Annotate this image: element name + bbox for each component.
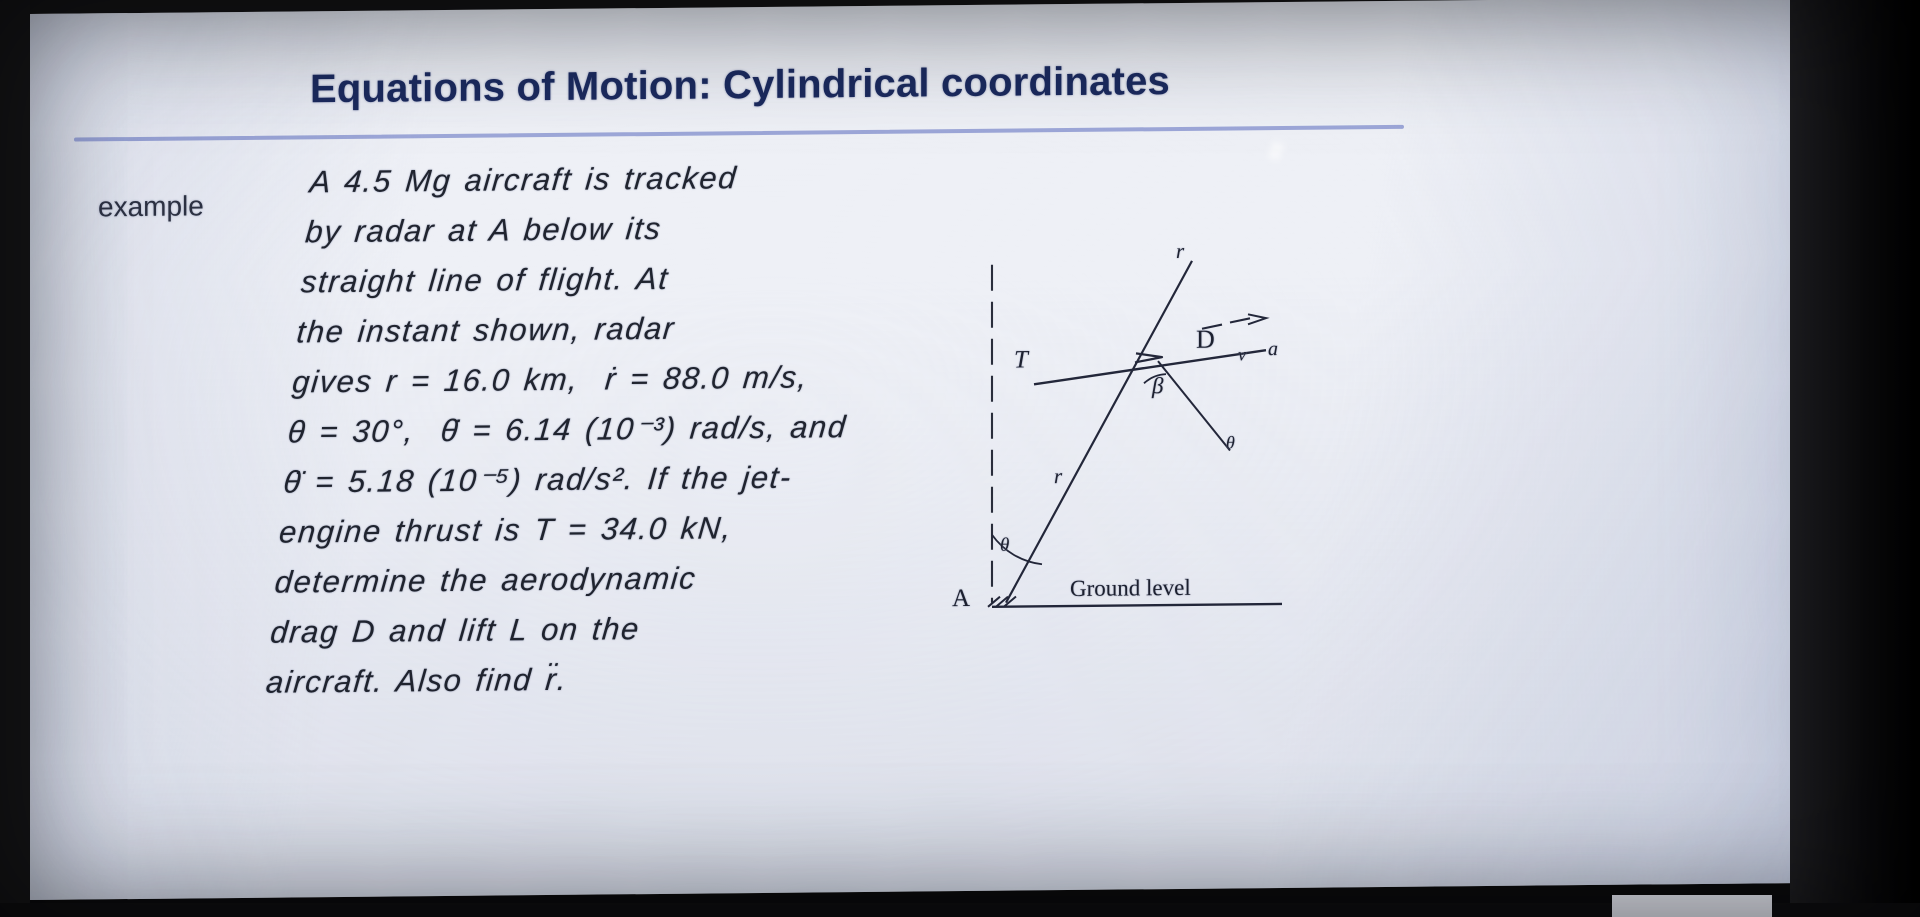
label-lift-a: a (1268, 338, 1278, 361)
label-velocity-v: v (1238, 344, 1246, 365)
problem-line-7: θ̈ = 5.18 (10⁻⁵) rad/s². If the jet- (281, 452, 905, 508)
lower-right-ray (1158, 360, 1230, 451)
label-beta: β (1152, 373, 1163, 399)
example-label: example (98, 190, 204, 223)
problem-line-11: aircraft. Also find r̈. (264, 652, 888, 708)
problem-line-5: gives r = 16.0 km, ṙ = 88.0 m/s, (290, 352, 914, 408)
label-r-top: r (1176, 239, 1184, 264)
taskbar-chip (1612, 895, 1772, 917)
label-ground-level: Ground level (1070, 575, 1191, 602)
projector-screen-photo: Equations of Motion: Cylindrical coordin… (0, 0, 1920, 917)
slide-title: Equations of Motion: Cylindrical coordin… (30, 56, 1450, 115)
problem-line-9: determine the aerodynamic (273, 552, 897, 608)
problem-line-2: by radar at A below its (303, 201, 927, 257)
problem-line-1: A 4.5 Mg aircraft is tracked (308, 151, 932, 207)
bezel-left (0, 0, 30, 917)
problem-line-8: engine thrust is T = 34.0 kN, (277, 502, 901, 558)
problem-line-10: drag D and lift L on the (268, 602, 892, 658)
problem-line-4: the instant shown, radar (295, 301, 919, 357)
label-thrust-T: T (1014, 346, 1028, 374)
lens-glare (1267, 141, 1284, 162)
label-drag-D: D (1196, 325, 1215, 355)
radial-line-r (1006, 261, 1192, 603)
problem-statement-text: A 4.5 Mg aircraft is tracked by radar at… (264, 151, 932, 707)
problem-line-3: straight line of flight. At (299, 251, 923, 307)
problem-line-6: θ = 30°, θ̇ = 6.14 (10⁻³) rad/s, and (286, 402, 910, 458)
label-theta-small: θ (1226, 432, 1235, 453)
ground-level-line (992, 604, 1282, 607)
velocity-arrow-head (1248, 314, 1266, 324)
aircraft-radar-diagram: r r T D a v β θ θ A Ground level (930, 231, 1360, 655)
label-theta-at-A: θ (1000, 535, 1009, 557)
label-point-A: A (952, 585, 970, 613)
bezel-right (1790, 0, 1920, 917)
label-r-middle: r (1054, 464, 1062, 489)
presentation-slide: Equations of Motion: Cylindrical coordin… (30, 0, 1790, 900)
title-divider (74, 125, 1404, 142)
